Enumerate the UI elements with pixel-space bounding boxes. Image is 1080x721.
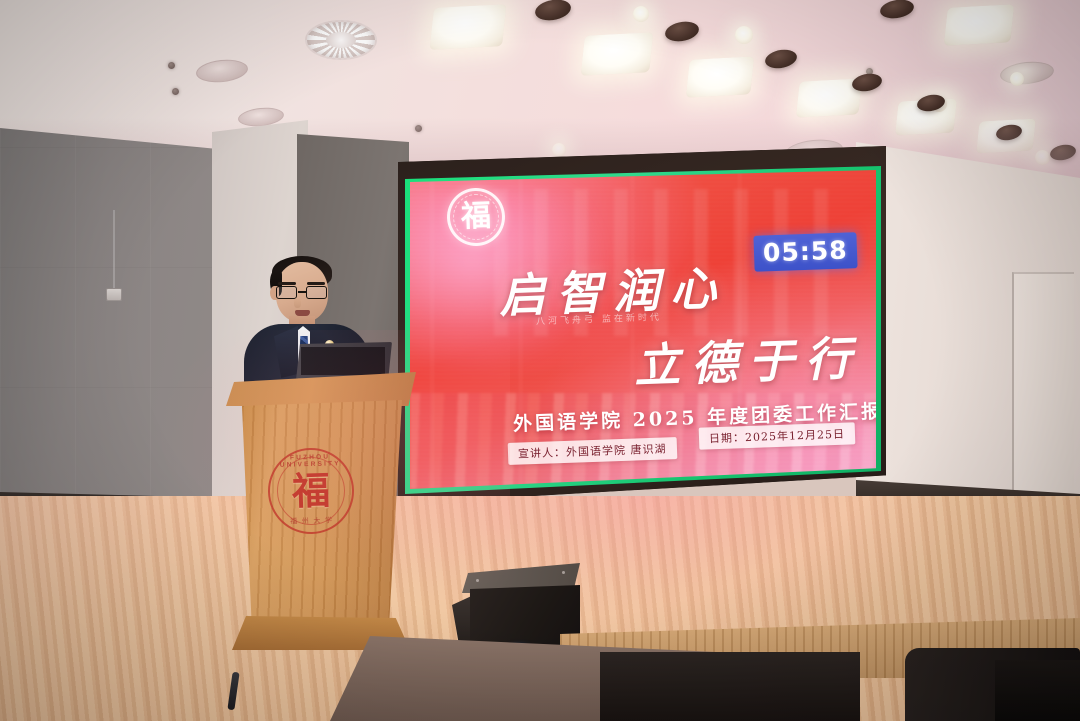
sprinkler-head [172,88,179,95]
downlight [735,26,753,44]
ceiling-speaker [765,48,797,70]
panel-light [944,4,1014,45]
panel-light [581,32,654,76]
eyebrow-right [307,282,325,285]
photo-scene: 福 05:58 启智润心 八河飞舟弓 监在新时代 立德于行 外国语学院 2025… [0,0,1080,721]
glasses-lens-left [276,286,297,299]
glasses-lens-right [306,286,327,299]
eyebrow-left [278,282,296,285]
air-diffuser [195,57,249,84]
ceiling-speaker [1050,143,1076,161]
downlight [1035,150,1050,165]
ceiling-speaker [996,123,1022,141]
downlight [552,143,566,157]
air-diffuser [999,59,1055,87]
sprinkler-head [168,62,175,69]
slide-title-line-2: 立德于行 [633,322,863,396]
foreground-table-dark [600,652,860,721]
speaker-screw [476,579,479,582]
wall-panel-lines [0,128,228,508]
screen-display-surface: 福 05:58 启智润心 八河飞舟弓 监在新时代 立德于行 外国语学院 2025… [410,170,876,489]
wall-cable [113,210,115,290]
ceiling-speaker [535,0,571,22]
ceiling-speaker [665,20,699,43]
ceiling-speaker [852,72,882,93]
foreground-chair-2 [995,660,1080,721]
downlight [633,6,649,22]
panel-light [976,119,1036,154]
laptop-screen [301,347,385,375]
nose [294,298,301,308]
panel-light [430,4,507,50]
ceiling-speaker [880,0,914,20]
air-diffuser [305,20,377,60]
wall-outlet [106,288,122,301]
university-emblem: FUZHOU UNIVERSITY 福 福 州 大 学 [267,447,355,535]
sprinkler-head [415,125,422,132]
led-screen[interactable]: 福 05:58 启智润心 八河飞舟弓 监在新时代 立德于行 外国语学院 2025… [398,146,886,504]
fu-logo-ring [452,193,500,241]
countdown-timer: 05:58 [753,232,857,272]
speaker-screw [562,571,565,574]
wall-left [0,128,228,508]
panel-light [686,56,754,97]
door[interactable] [1012,272,1074,500]
emblem-arc-text: FUZHOU UNIVERSITY [267,453,353,469]
glasses-icon [275,286,329,300]
podium: FUZHOU UNIVERSITY 福 福 州 大 学 [226,372,416,674]
downlight [1010,72,1024,86]
